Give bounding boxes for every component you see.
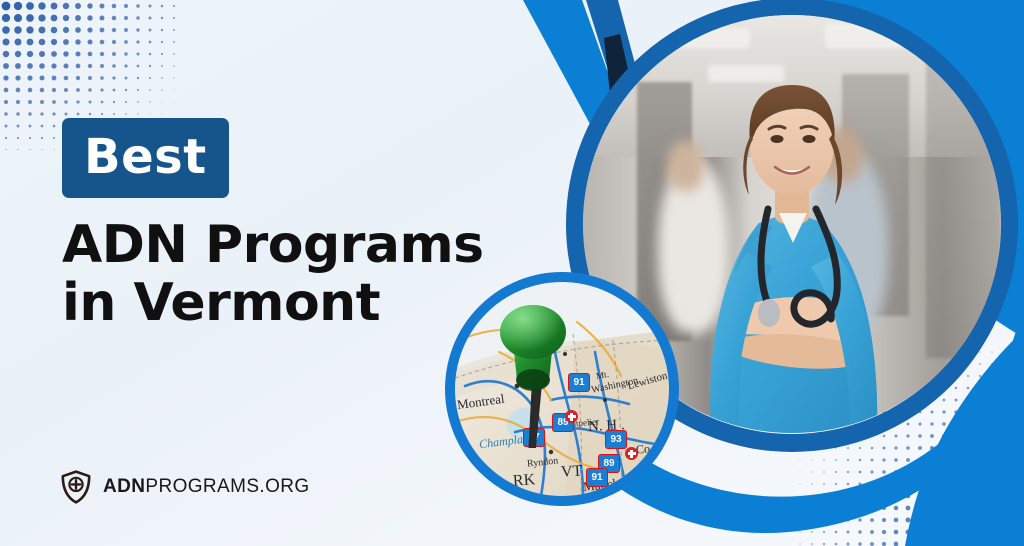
best-badge: Best — [62, 118, 229, 198]
headline-line-2: in Vermont — [62, 274, 532, 332]
headline-line-1: ADN Programs — [62, 215, 484, 275]
logo-name-bold: ADN — [103, 476, 145, 497]
shield-plus-icon — [60, 470, 92, 504]
site-logo[interactable]: ADNPROGRAMS.ORG — [60, 470, 310, 504]
page-title: ADN Programs in Vermont — [62, 216, 532, 332]
logo-name-rest: PROGRAMS.ORG — [145, 476, 309, 497]
logo-wordmark: ADNPROGRAMS.ORG — [103, 476, 310, 498]
banner-root: MontrealChamplainRyndonRKVT .N. H .Montp… — [0, 0, 1024, 546]
headline-block: Best ADN Programs in Vermont — [62, 118, 532, 332]
